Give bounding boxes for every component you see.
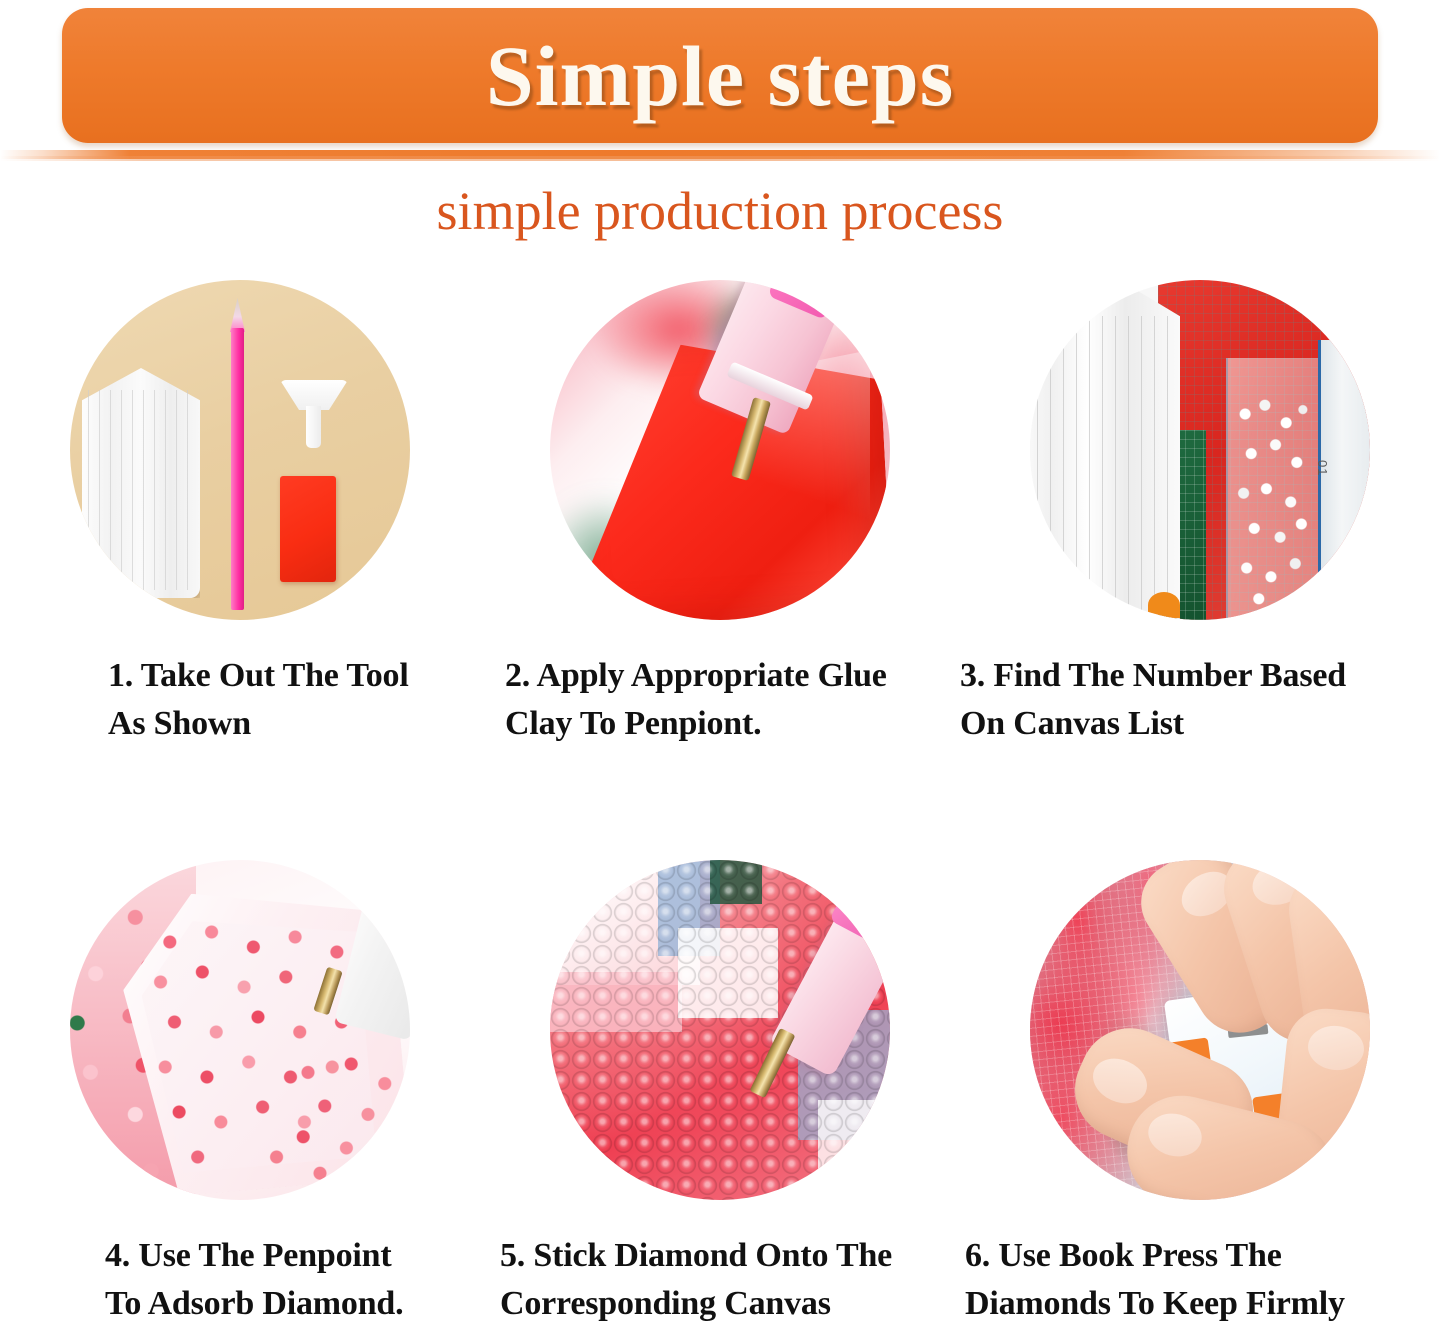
step-5-photo [550, 860, 890, 1200]
step-6-caption-line-1: 6. Use Book Press The [965, 1232, 1435, 1280]
loose-diamond-drills [284, 1050, 404, 1190]
header-banner: Simple steps [62, 8, 1378, 143]
steps-grid: 1. Take Out The Tool As Shown [0, 280, 1440, 1235]
pen-tip-shape [230, 298, 245, 332]
step-5-caption: 5. Stick Diamond Onto The Corresponding … [500, 1232, 970, 1329]
white-tray-grooves [1030, 316, 1174, 620]
step-card-2: 2. Apply Appropriate Glue Clay To Penpio… [480, 280, 960, 655]
step-6-caption-line-2: Diamonds To Keep Firmly [965, 1280, 1435, 1328]
step-4-caption-line-1: 4. Use The Penpoint [105, 1232, 505, 1280]
step-card-5: 5. Stick Diamond Onto The Corresponding … [480, 860, 960, 1235]
pink-pen-shape [231, 328, 244, 610]
step-3-photo: 01 [1030, 280, 1370, 620]
tweezer-tool-stem-shape [306, 406, 321, 448]
step-1-caption: 1. Take Out The Tool As Shown [108, 652, 508, 749]
step-4-image-holder [0, 860, 480, 1235]
step-2-caption: 2. Apply Appropriate Glue Clay To Penpio… [505, 652, 975, 749]
step-5-image-holder [480, 860, 960, 1235]
bag-label-strip [1318, 340, 1370, 620]
step-1-image-holder [0, 280, 480, 655]
step-3-caption: 3. Find The Number Based On Canvas List [960, 652, 1430, 749]
step-1-photo [70, 280, 410, 620]
step-2-image-holder [480, 280, 960, 655]
step-5-caption-line-2: Corresponding Canvas [500, 1280, 970, 1328]
orange-accent-shape [1148, 592, 1180, 618]
step-4-photo [70, 860, 410, 1200]
red-glue-clay-shape [280, 476, 336, 582]
bag-label-text: 01 [1315, 460, 1330, 476]
white-diamond-beads [1236, 392, 1312, 612]
step-3-caption-line-1: 3. Find The Number Based [960, 652, 1430, 700]
step-3-caption-line-2: On Canvas List [960, 700, 1430, 748]
page-subtitle: simple production process [0, 182, 1440, 241]
step-card-6: 6. Use Book Press The Diamonds To Keep F… [960, 860, 1440, 1235]
step-card-4: 4. Use The Penpoint To Adsorb Diamond. [0, 860, 480, 1235]
steps-row-1: 1. Take Out The Tool As Shown [0, 280, 1440, 655]
step-6-caption: 6. Use Book Press The Diamonds To Keep F… [965, 1232, 1435, 1329]
step-6-image-holder [960, 860, 1440, 1235]
step-1-caption-line-2: As Shown [108, 700, 508, 748]
step-2-photo [550, 280, 890, 620]
step-4-caption-line-2: To Adsorb Diamond. [105, 1280, 505, 1328]
header-banner-area: Simple steps [0, 0, 1440, 160]
step-card-1: 1. Take Out The Tool As Shown [0, 280, 480, 655]
steps-row-2: 4. Use The Penpoint To Adsorb Diamond. [0, 860, 1440, 1235]
step-2-caption-line-1: 2. Apply Appropriate Glue [505, 652, 975, 700]
tool-tray-grooves [88, 390, 192, 590]
header-divider [0, 150, 1440, 159]
step-3-image-holder: 01 [960, 280, 1440, 655]
step-1-caption-line-1: 1. Take Out The Tool [108, 652, 508, 700]
step-4-caption: 4. Use The Penpoint To Adsorb Diamond. [105, 1232, 505, 1329]
step-6-photo [1030, 860, 1370, 1200]
step-2-caption-line-2: Clay To Penpiont. [505, 700, 975, 748]
step-5-caption-line-1: 5. Stick Diamond Onto The [500, 1232, 970, 1280]
page-title: Simple steps [62, 33, 1378, 119]
step-card-3: 01 3. Find The Number Based On Canvas Li… [960, 280, 1440, 655]
